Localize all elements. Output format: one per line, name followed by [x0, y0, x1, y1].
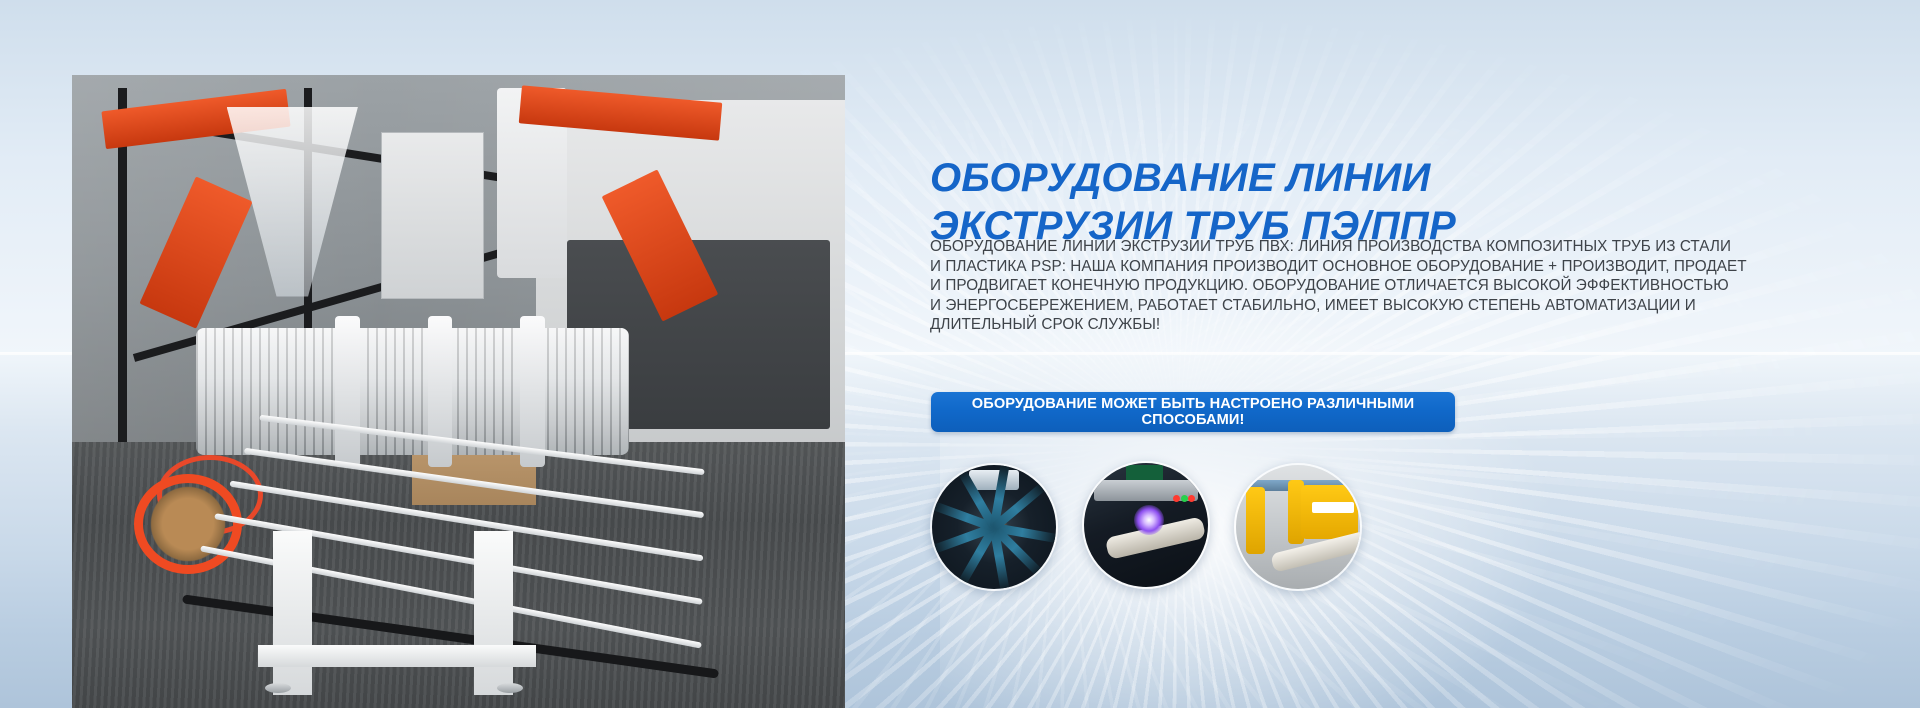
thumbnail-3-yellow-column [1246, 487, 1265, 554]
description-line-2: И ПЛАСТИКА PSP: НАША КОМПАНИЯ ПРОИЗВОДИТ… [930, 257, 1770, 276]
page-title: ОБОРУДОВАНИЕ ЛИНИИ ЭКСТРУЗИИ ТРУБ ПЭ/ППР [930, 154, 1750, 250]
photo-orange-hose-spool [134, 474, 242, 574]
thumbnail-2-indicator-red [1188, 495, 1195, 502]
photo-stand-foot [265, 683, 291, 693]
thumbnail-2-indicator-red [1173, 495, 1180, 502]
photo-barrel-ring [520, 316, 545, 468]
photo-stand-foot [497, 683, 523, 693]
thumbnail-gallery [930, 463, 1470, 613]
thumbnail-3-machine-label [1312, 502, 1354, 513]
thumbnail-cnc-cutting-machine[interactable] [1234, 463, 1362, 591]
photo-stand-leg [273, 531, 312, 696]
photo-stand-leg [474, 531, 513, 696]
description-line-5: ДЛИТЕЛЬНЫЙ СРОК СЛУЖБЫ! [930, 315, 1770, 334]
promo-banner: ОБОРУДОВАНИЕ ЛИНИИ ЭКСТРУЗИИ ТРУБ ПЭ/ППР… [0, 0, 1920, 708]
description-text: ОБОРУДОВАНИЕ ЛИНИИ ЭКСТРУЗИИ ТРУБ ПВХ: Л… [930, 237, 1770, 334]
content-column: ОБОРУДОВАНИЕ ЛИНИИ ЭКСТРУЗИИ ТРУБ ПЭ/ППР… [930, 0, 1920, 708]
description-line-3: И ПРОДВИГАЕТ КОНЕЧНУЮ ПРОДУКЦИЮ. ОБОРУДО… [930, 276, 1770, 295]
photo-barrel-ring [428, 316, 453, 468]
thumbnail-2-laser-glow [1134, 505, 1164, 535]
customization-cta-button[interactable]: ОБОРУДОВАНИЕ МОЖЕТ БЫТЬ НАСТРОЕНО РАЗЛИЧ… [931, 392, 1455, 432]
thumbnail-1-ceiling [969, 470, 1019, 490]
photo-stand-base [258, 645, 536, 667]
thumbnail-laser-marking-station[interactable] [1082, 461, 1210, 589]
hero-photo [72, 75, 845, 708]
thumbnail-vacuum-cooling-tank[interactable] [930, 463, 1058, 591]
thumbnail-1-image [932, 465, 1056, 589]
headline-line-1: ОБОРУДОВАНИЕ ЛИНИИ [930, 154, 1750, 202]
thumbnail-2-indicator-green [1181, 495, 1188, 502]
thumbnail-2-green-housing [1126, 465, 1163, 481]
thumbnail-2-image [1084, 463, 1208, 587]
photo-barrel-ring [335, 316, 360, 468]
description-line-4: И ЭНЕРГОСБЕРЕЖЕНИЕМ, РАБОТАЕТ СТАБИЛЬНО,… [930, 296, 1770, 315]
description-line-1: ОБОРУДОВАНИЕ ЛИНИИ ЭКСТРУЗИИ ТРУБ ПВХ: Л… [930, 237, 1770, 256]
photo-control-cabinet [381, 132, 483, 299]
thumbnail-3-image [1236, 465, 1360, 589]
